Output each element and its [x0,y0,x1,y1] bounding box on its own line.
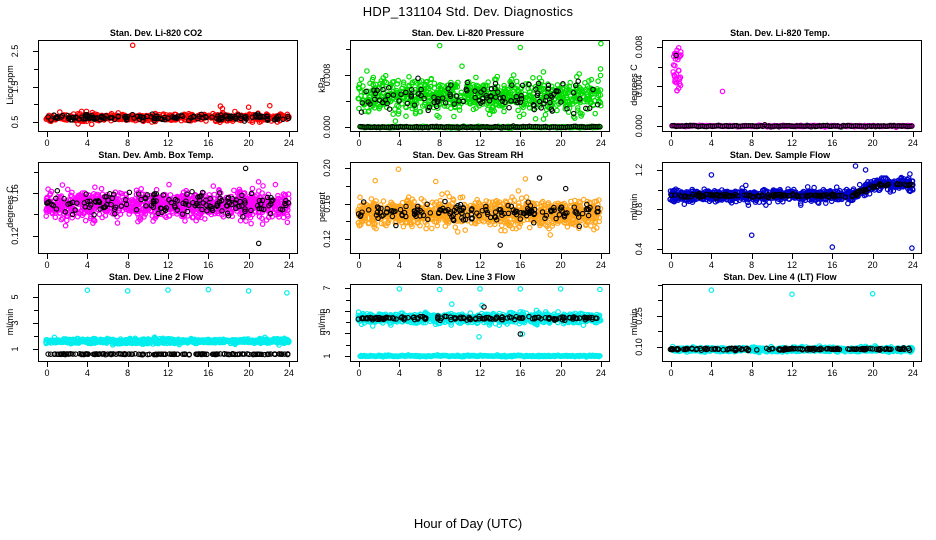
y-tick-mark [345,311,350,312]
x-tick-label: 8 [116,138,140,148]
x-tick-label: 12 [780,138,804,148]
x-tick-mark [128,362,129,367]
x-tick-mark [47,362,48,367]
x-tick-mark [128,254,129,259]
x-tick-mark [792,132,793,137]
y-tick-mark [345,333,350,334]
x-tick-mark [520,254,521,259]
x-tick-label: 4 [75,138,99,148]
y-tick-mark [657,347,662,348]
x-tick-label: 0 [659,260,683,270]
y-tick-mark-minor [658,300,662,301]
plot-area [350,162,610,254]
scatter-layer [39,163,297,253]
x-tick-label: 24 [901,260,925,270]
y-tick-mark [657,209,662,210]
y-tick-mark-minor [34,69,38,70]
x-tick-mark [913,362,914,367]
x-tick-mark [208,132,209,137]
y-tick-mark [657,170,662,171]
x-tick-label: 24 [901,368,925,378]
x-tick-label: 24 [589,260,613,270]
x-tick-label: 8 [740,368,764,378]
x-tick-mark [561,362,562,367]
x-tick-label: 20 [549,138,573,148]
panel-3: Stan. Dev. Li-820 Temp.0.0000.0040.008de… [624,28,936,158]
x-tick-mark [440,254,441,259]
panel-title: Stan. Dev. Line 4 (LT) Flow [624,272,936,282]
x-tick-label: 4 [387,138,411,148]
x-tick-label: 24 [901,138,925,148]
x-tick-mark [601,254,602,259]
y-tick-mark [33,236,38,237]
figure-xaxis-label: Hour of Day (UTC) [0,516,936,531]
y-tick-mark-minor [346,345,350,346]
y-axis-label: ml/min [5,268,15,376]
x-tick-label: 20 [549,368,573,378]
x-tick-mark [752,132,753,137]
x-tick-mark [873,362,874,367]
y-tick-mark-minor [658,106,662,107]
y-tick-mark-minor [346,49,350,50]
x-tick-label: 20 [861,260,885,270]
scatter-layer [351,285,609,361]
y-tick-mark-minor [658,285,662,286]
y-tick-mark [657,47,662,48]
scatter-layer [39,41,297,131]
x-tick-label: 8 [116,368,140,378]
x-tick-label: 16 [508,138,532,148]
y-tick-mark [33,297,38,298]
y-axis-label: kPa [317,24,327,146]
plot-area [38,284,298,362]
plot-area [38,40,298,132]
x-tick-mark [359,362,360,367]
x-tick-label: 16 [508,368,532,378]
y-tick-mark [33,349,38,350]
x-tick-label: 20 [237,138,261,148]
y-tick-mark [33,323,38,324]
x-tick-mark [440,132,441,137]
y-tick-mark-minor [346,322,350,323]
y-tick-mark [345,127,350,128]
x-tick-mark [289,362,290,367]
y-axis-label: ml/min [629,268,639,376]
x-tick-mark [440,362,441,367]
x-tick-mark [561,132,562,137]
y-tick-mark [345,168,350,169]
y-axis-label: Licor ppm [5,24,15,146]
x-tick-mark [913,254,914,259]
x-tick-mark [480,362,481,367]
x-tick-mark [399,362,400,367]
x-tick-mark [208,362,209,367]
y-tick-mark-minor [658,331,662,332]
x-tick-mark [289,132,290,137]
y-tick-mark [345,239,350,240]
x-tick-label: 16 [820,260,844,270]
x-tick-mark [47,132,48,137]
y-axis-label: percent [317,146,327,268]
y-axis-label: degrees C [629,24,639,146]
x-tick-label: 4 [699,368,723,378]
panel-title: Stan. Dev. Li-820 Pressure [312,28,624,38]
y-tick-mark-minor [34,310,38,311]
y-tick-mark-minor [658,67,662,68]
x-tick-label: 16 [820,138,844,148]
x-tick-label: 24 [589,138,613,148]
panel-9: Stan. Dev. Line 4 (LT) Flow0.100.25ml/mi… [624,272,936,388]
x-tick-mark [711,254,712,259]
y-tick-mark [345,356,350,357]
x-tick-mark [87,254,88,259]
x-tick-mark [752,362,753,367]
x-tick-label: 20 [237,260,261,270]
x-tick-label: 16 [196,138,220,148]
x-tick-mark [359,254,360,259]
plot-area [350,284,610,362]
x-tick-mark [671,254,672,259]
x-tick-label: 4 [699,260,723,270]
y-tick-mark-minor [346,186,350,187]
x-tick-mark [208,254,209,259]
x-tick-mark [47,254,48,259]
x-tick-mark [128,132,129,137]
x-tick-mark [249,254,250,259]
x-tick-mark [168,132,169,137]
x-tick-label: 8 [428,368,452,378]
x-tick-label: 0 [35,368,59,378]
y-axis-label: ml/min [629,146,639,268]
x-tick-label: 20 [861,138,885,148]
figure-title: HDP_131104 Std. Dev. Diagnostics [0,4,936,19]
scatter-layer [351,41,609,131]
x-tick-label: 24 [277,368,301,378]
y-axis-label: degrees C [5,146,15,268]
x-tick-label: 0 [659,368,683,378]
x-tick-mark [601,132,602,137]
x-tick-mark [520,362,521,367]
x-tick-mark [520,132,521,137]
panel-title: Stan. Dev. Gas Stream RH [312,150,624,160]
x-tick-mark [873,254,874,259]
y-tick-mark-minor [658,190,662,191]
x-tick-label: 16 [196,260,220,270]
x-tick-mark [249,132,250,137]
x-tick-label: 12 [780,368,804,378]
y-tick-mark-minor [346,101,350,102]
x-tick-mark [711,362,712,367]
x-tick-label: 4 [75,260,99,270]
x-tick-label: 4 [699,138,723,148]
x-tick-label: 0 [659,138,683,148]
x-tick-label: 20 [237,368,261,378]
x-tick-mark [561,254,562,259]
panel-2: Stan. Dev. Li-820 Pressure0.0000.008kPa0… [312,28,624,158]
y-tick-mark-minor [346,300,350,301]
plot-area [662,40,922,132]
x-tick-label: 24 [589,368,613,378]
x-tick-label: 12 [780,260,804,270]
scatter-layer [39,285,297,361]
x-tick-mark [671,362,672,367]
y-axis-label: ml/min [317,268,327,376]
y-tick-mark [33,193,38,194]
x-tick-mark [168,362,169,367]
panel-title: Stan. Dev. Line 2 Flow [0,272,312,282]
y-tick-mark-minor [346,221,350,222]
panel-title: Stan. Dev. Amb. Box Temp. [0,150,312,160]
y-tick-mark [657,316,662,317]
x-tick-label: 20 [861,368,885,378]
x-tick-mark [792,254,793,259]
x-tick-label: 16 [508,260,532,270]
x-tick-label: 8 [428,260,452,270]
panel-title: Stan. Dev. Sample Flow [624,150,936,160]
x-tick-label: 12 [156,138,180,148]
scatter-layer [351,163,609,253]
x-tick-label: 16 [196,368,220,378]
panel-6: Stan. Dev. Sample Flow0.40.81.2ml/min048… [624,150,936,280]
x-tick-mark [249,362,250,367]
scatter-layer [663,285,921,361]
y-tick-mark [657,249,662,250]
y-tick-mark [33,122,38,123]
x-tick-mark [873,132,874,137]
panel-title: Stan. Dev. Li-820 CO2 [0,28,312,38]
plot-area [350,40,610,132]
x-tick-label: 12 [468,260,492,270]
y-tick-mark-minor [34,172,38,173]
x-tick-label: 0 [347,260,371,270]
x-tick-label: 0 [35,260,59,270]
x-tick-label: 0 [347,368,371,378]
scatter-layer [663,163,921,253]
x-tick-mark [480,254,481,259]
x-tick-label: 24 [277,260,301,270]
plot-area [662,162,922,254]
x-tick-mark [913,132,914,137]
y-tick-mark [657,126,662,127]
x-tick-mark [168,254,169,259]
x-tick-label: 12 [156,368,180,378]
x-tick-mark [87,362,88,367]
panel-5: Stan. Dev. Gas Stream RH0.120.160.20perc… [312,150,624,280]
y-tick-mark-minor [34,214,38,215]
y-tick-mark [345,204,350,205]
panel-8: Stan. Dev. Line 3 Flow1357ml/min04812162… [312,272,624,388]
x-tick-label: 8 [116,260,140,270]
x-tick-label: 8 [740,260,764,270]
x-tick-mark [832,254,833,259]
scatter-layer [663,41,921,131]
x-tick-label: 12 [468,368,492,378]
x-tick-mark [711,132,712,137]
x-tick-label: 4 [387,368,411,378]
x-tick-mark [399,254,400,259]
x-tick-label: 20 [549,260,573,270]
y-tick-mark [345,75,350,76]
y-tick-mark [33,87,38,88]
x-tick-mark [832,362,833,367]
x-tick-mark [399,132,400,137]
x-tick-label: 8 [740,138,764,148]
x-tick-mark [289,254,290,259]
panel-4: Stan. Dev. Amb. Box Temp.0.120.16degrees… [0,150,312,280]
x-tick-mark [87,132,88,137]
diagnostics-figure: HDP_131104 Std. Dev. Diagnostics Hour of… [0,0,936,540]
y-tick-mark-minor [34,104,38,105]
x-tick-mark [480,132,481,137]
x-tick-label: 24 [277,138,301,148]
y-tick-mark [33,51,38,52]
x-tick-mark [601,362,602,367]
x-tick-label: 0 [35,138,59,148]
x-tick-mark [832,132,833,137]
x-tick-label: 4 [75,368,99,378]
y-tick-mark [657,86,662,87]
x-tick-mark [671,132,672,137]
plot-area [38,162,298,254]
x-tick-label: 12 [156,260,180,270]
x-tick-mark [359,132,360,137]
x-tick-label: 16 [820,368,844,378]
x-tick-mark [792,362,793,367]
panel-title: Stan. Dev. Li-820 Temp. [624,28,936,38]
x-tick-label: 0 [347,138,371,148]
x-tick-mark [752,254,753,259]
panel-7: Stan. Dev. Line 2 Flow135ml/min048121620… [0,272,312,388]
x-tick-label: 4 [387,260,411,270]
plot-area [662,284,922,362]
x-tick-label: 12 [468,138,492,148]
x-tick-label: 8 [428,138,452,148]
y-tick-mark [345,288,350,289]
panel-1: Stan. Dev. Li-820 CO20.51.52.5Licor ppm0… [0,28,312,158]
y-tick-mark-minor [34,336,38,337]
y-tick-mark-minor [658,229,662,230]
panel-title: Stan. Dev. Line 3 Flow [312,272,624,282]
